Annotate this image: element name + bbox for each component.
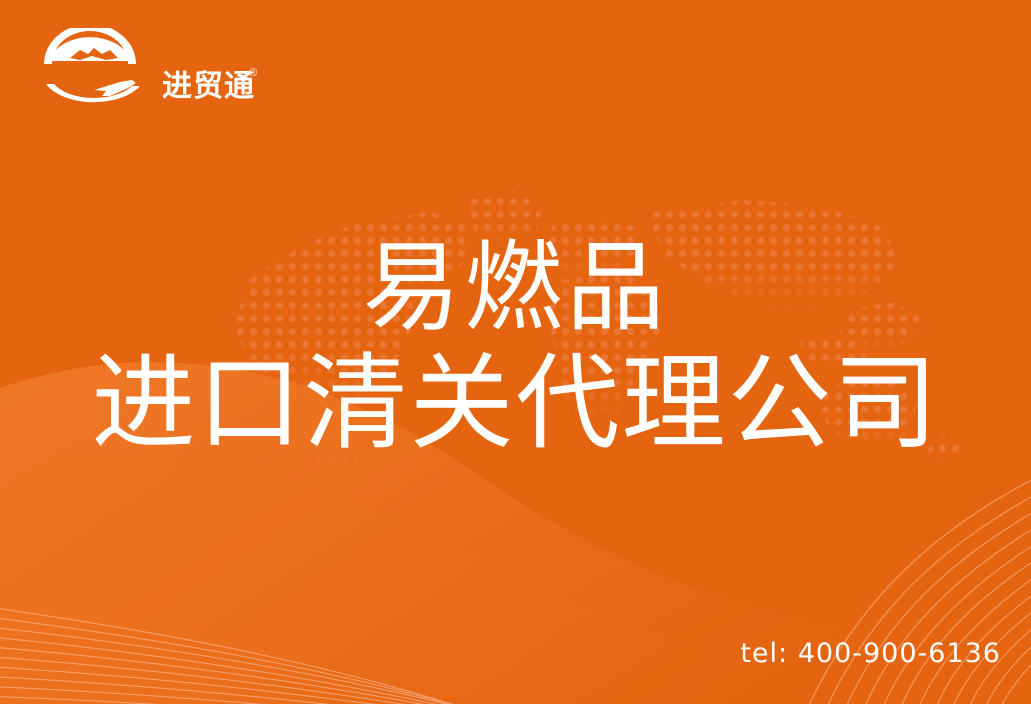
globe-swoosh-icon: [36, 28, 156, 108]
promo-banner: 进贸通 ® 易燃品 进口清关代理公司 tel: 400-900-6136: [0, 0, 1031, 704]
contact-phone[interactable]: tel: 400-900-6136: [740, 638, 1001, 669]
registered-trademark-icon: ®: [249, 68, 257, 79]
headline: 易燃品 进口清关代理公司: [0, 236, 1031, 460]
headline-line-2: 进口清关代理公司: [0, 346, 1031, 460]
logo-wordmark-cn: 进贸通: [162, 72, 255, 102]
company-logo[interactable]: 进贸通 ®: [36, 28, 246, 108]
headline-line-1: 易燃品: [0, 236, 1031, 342]
